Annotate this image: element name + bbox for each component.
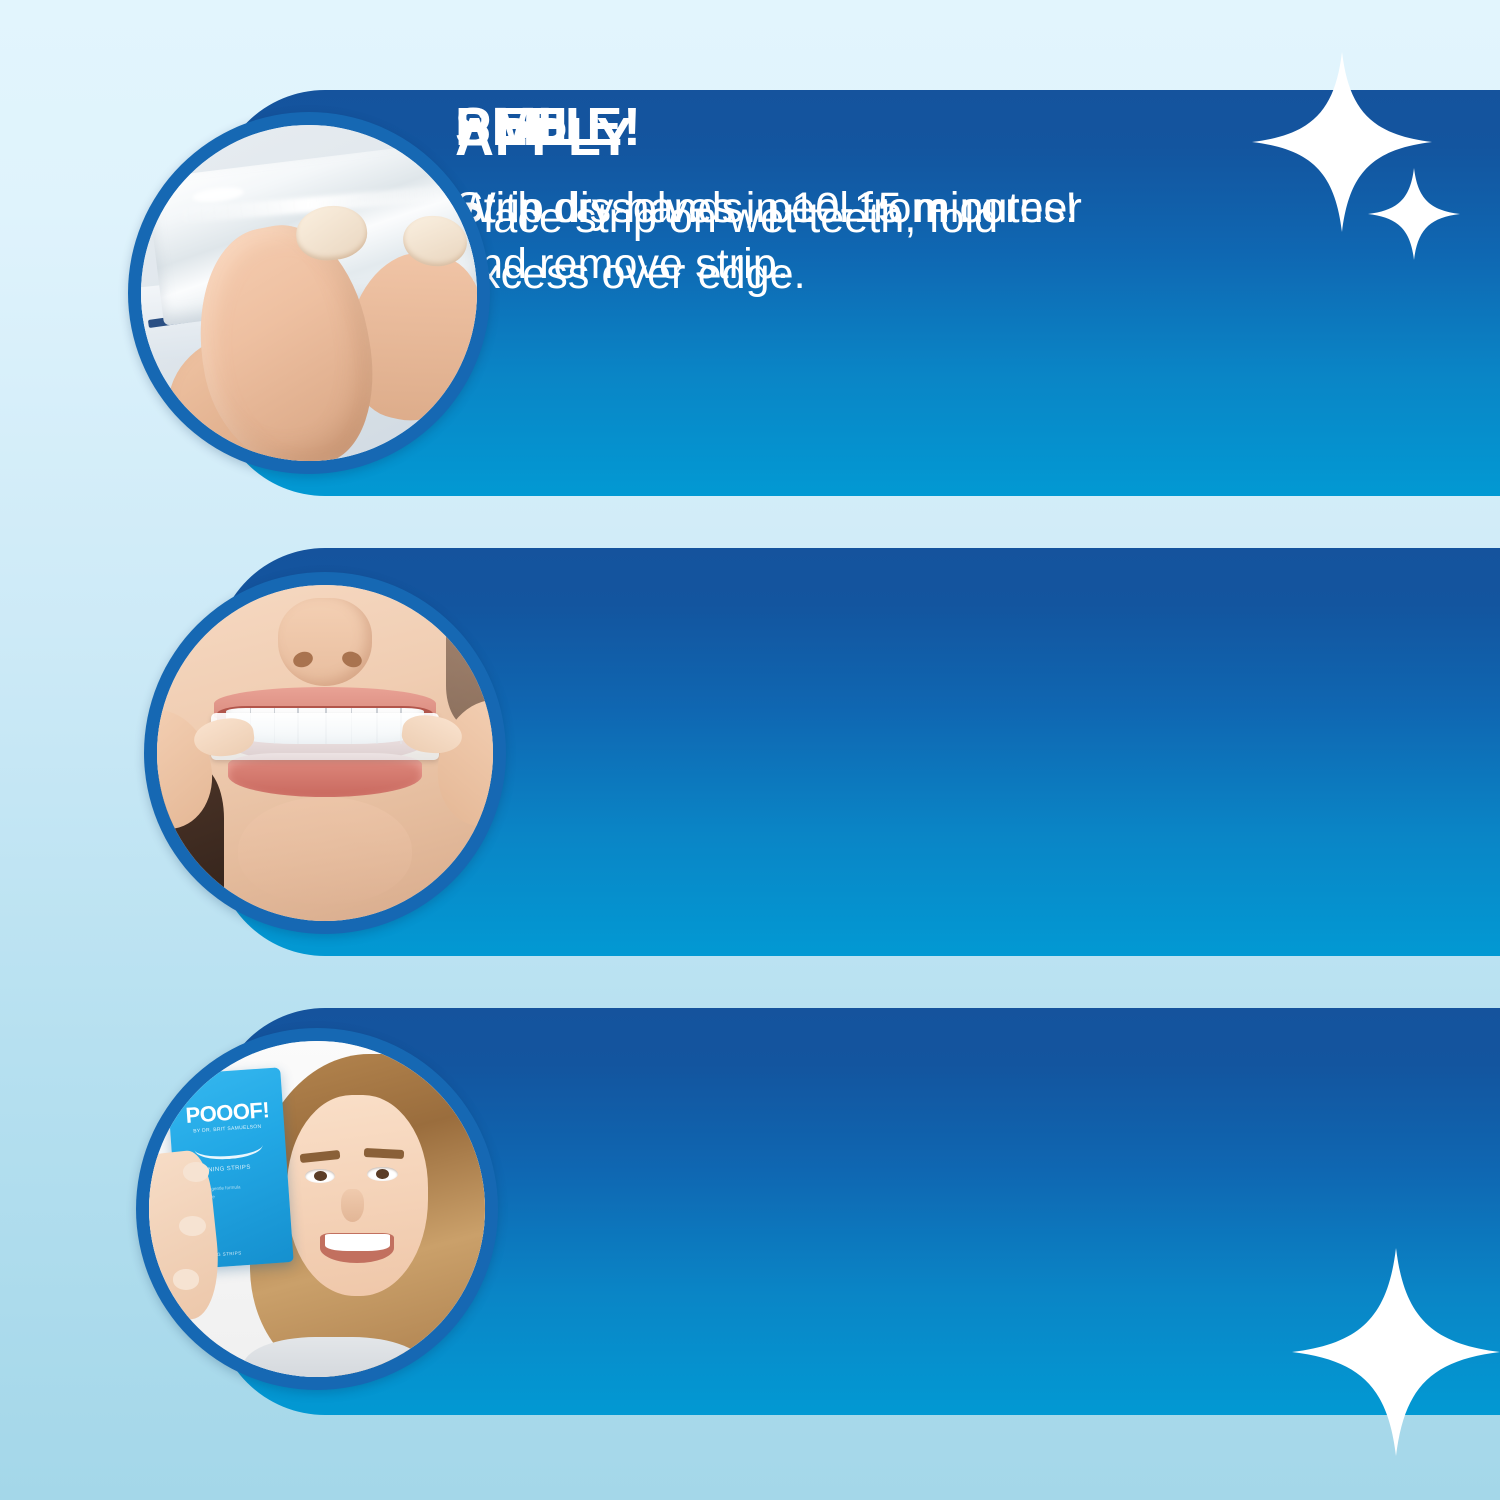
step-photo-peel: [128, 112, 490, 474]
photo-applying-strip: [157, 585, 493, 921]
shoulder: [243, 1337, 424, 1377]
step-title-smile: SMILE!: [455, 100, 1077, 155]
step-photo-smile: POOOF! BY DR. BRIT SAMUELSON WHITENING S…: [136, 1028, 498, 1390]
smiling-mouth: [320, 1233, 394, 1263]
smile-arc-icon: [193, 1133, 263, 1161]
sparkle-icon: [1368, 168, 1460, 260]
nose: [278, 598, 372, 685]
step-photo-apply: [144, 572, 506, 934]
photo-holding-product: POOOF! BY DR. BRIT SAMUELSON WHITENING S…: [149, 1041, 485, 1377]
eyebrow-right: [364, 1147, 405, 1158]
sparkle-icon: [1292, 1248, 1500, 1456]
fingernail: [179, 1216, 206, 1236]
step-text-smile: SMILE! Strip dissolves in 10-15 minutes!: [455, 100, 1077, 237]
photo-hand-peeling-packet: [141, 125, 477, 461]
teeth: [325, 1234, 390, 1251]
chin: [238, 797, 413, 905]
fingernail: [173, 1269, 200, 1289]
step-description-smile: Strip dissolves in 10-15 minutes!: [455, 181, 1077, 237]
